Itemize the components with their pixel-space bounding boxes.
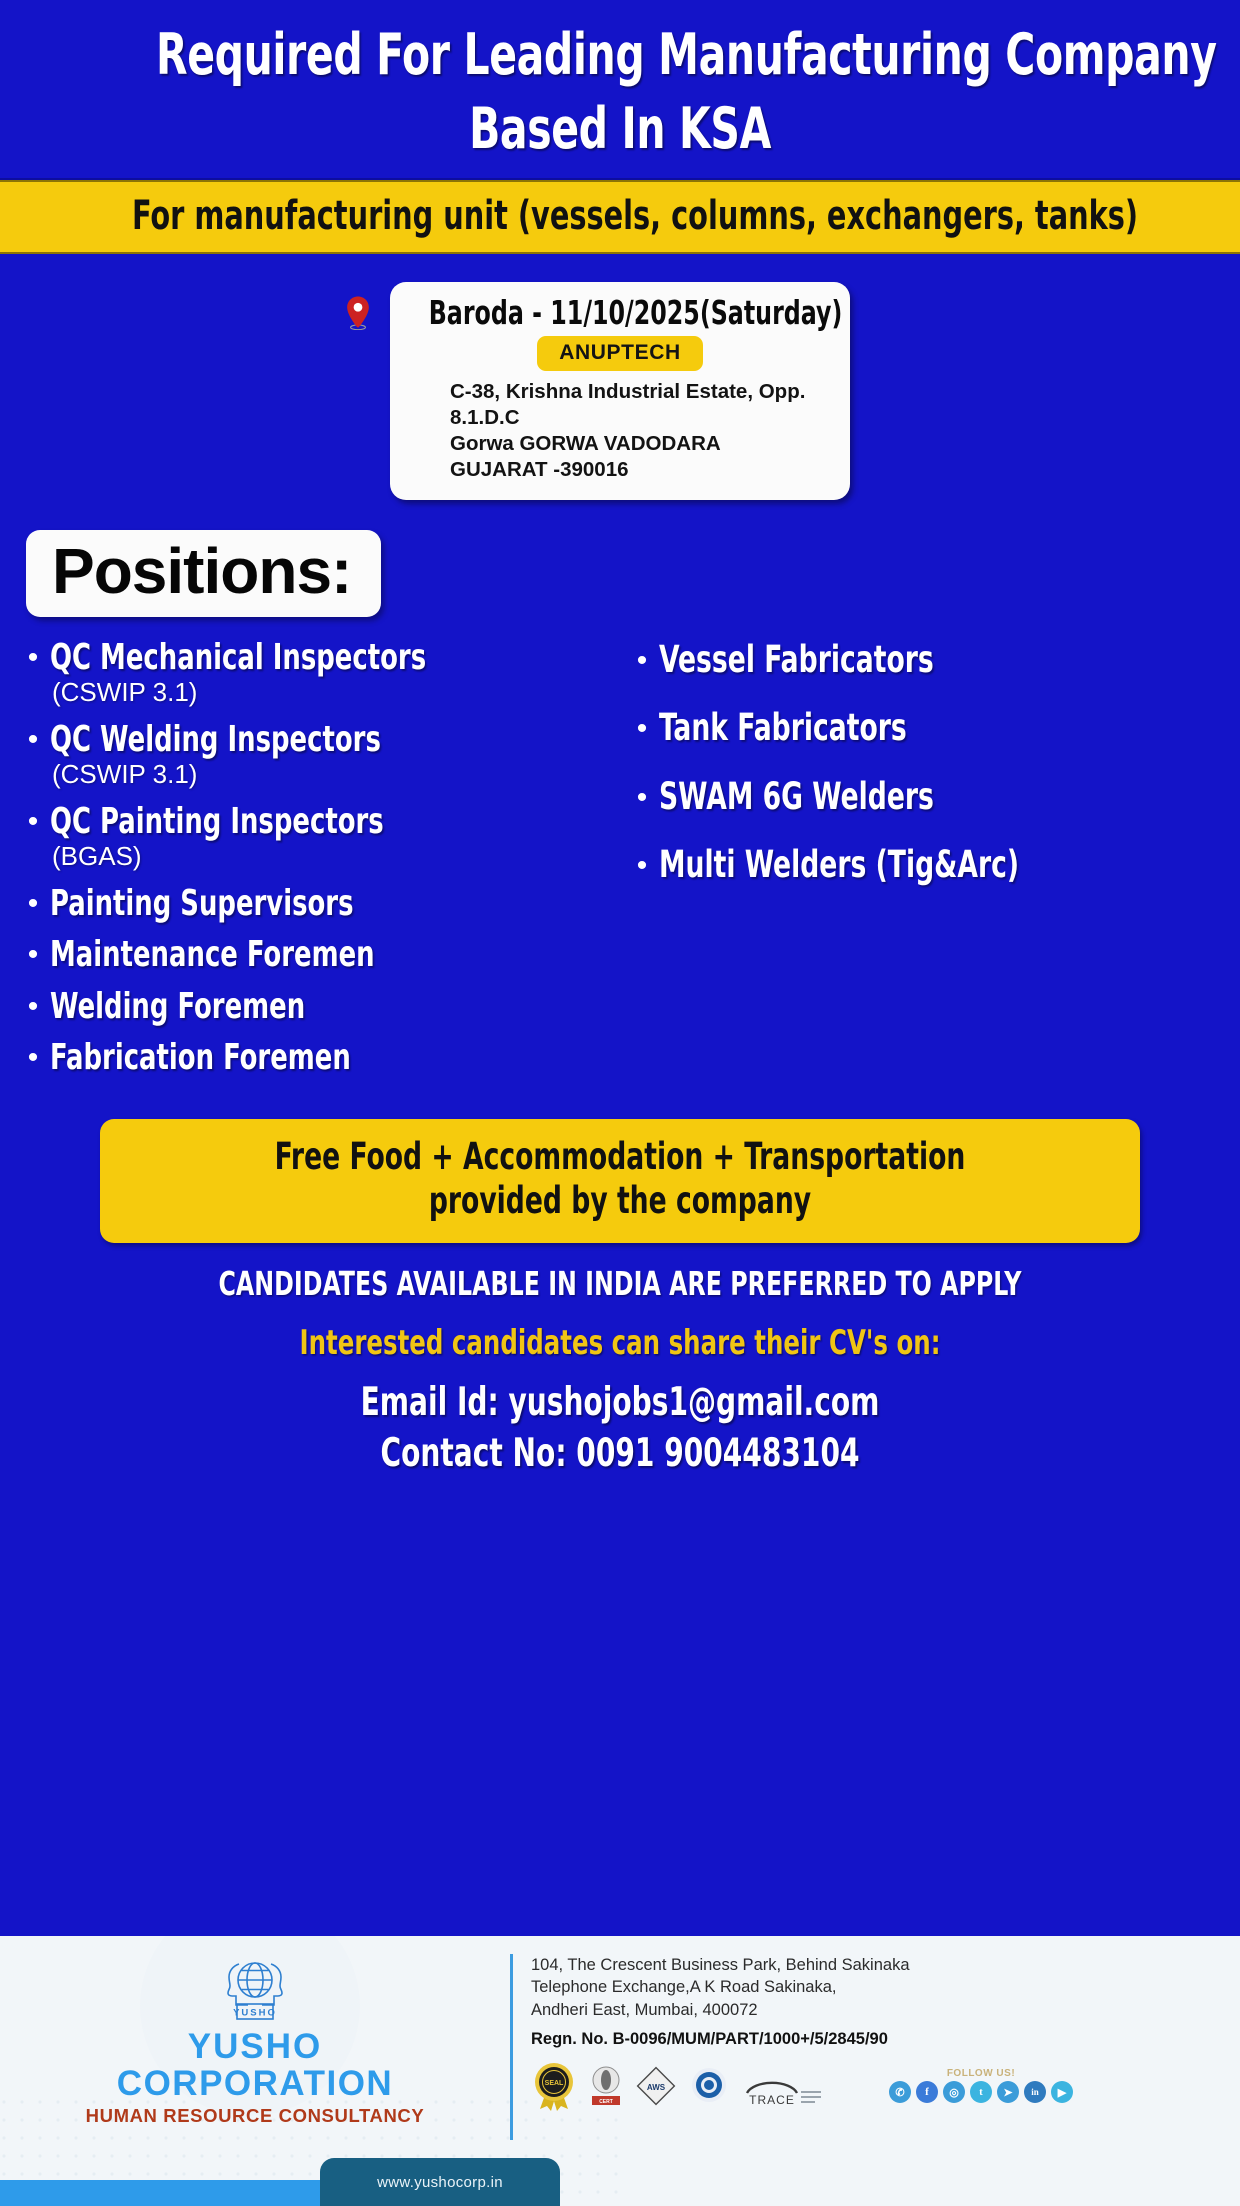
telegram-icon[interactable]: ➤ bbox=[997, 2081, 1019, 2103]
bullet-icon: • bbox=[16, 725, 50, 755]
job-title: Welding Foremen bbox=[50, 988, 305, 1025]
job-list-left: • QC Mechanical Inspectors (CSWIP 3.1) •… bbox=[16, 639, 615, 1077]
cv-prompt: Interested candidates can share their CV… bbox=[124, 1326, 1116, 1360]
list-item: • Maintenance Foremen bbox=[16, 936, 615, 973]
hero-title-line1: Required For Leading Manufacturing Compa… bbox=[156, 26, 1084, 86]
footer-brand: YUSHO YUSHO CORPORATION HUMAN RESOURCE C… bbox=[0, 1936, 510, 2127]
job-row: • SWAM 6G Welders bbox=[625, 778, 1224, 816]
brand-name-line2: CORPORATION bbox=[0, 2065, 510, 2102]
job-row: • Painting Supervisors bbox=[16, 885, 615, 922]
bullet-icon: • bbox=[625, 714, 659, 744]
contact-email[interactable]: Email Id: yushojobs1@gmail.com bbox=[124, 1382, 1116, 1425]
eligibility-notice: CANDIDATES AVAILABLE IN INDIA ARE PREFER… bbox=[124, 1267, 1116, 1300]
bullet-icon: • bbox=[16, 992, 50, 1022]
gold-seal-badge: SEAL bbox=[531, 2061, 577, 2111]
venue-address: C-38, Krishna Industrial Estate, Opp. 8.… bbox=[408, 379, 832, 484]
job-row: • QC Mechanical Inspectors bbox=[16, 639, 615, 676]
bullet-icon: • bbox=[625, 851, 659, 881]
subtitle-text: For manufacturing unit (vessels, columns… bbox=[132, 196, 1108, 236]
job-row: • Fabrication Foremen bbox=[16, 1039, 615, 1076]
positions-left-column: • QC Mechanical Inspectors (CSWIP 3.1) •… bbox=[16, 639, 615, 1091]
brand-name-line1: YUSHO bbox=[0, 2028, 510, 2065]
hero-banner: Required For Leading Manufacturing Compa… bbox=[0, 0, 1240, 180]
list-item: • Painting Supervisors bbox=[16, 885, 615, 922]
benefits-box: Free Food + Accommodation + Transportati… bbox=[100, 1119, 1140, 1244]
job-title: Maintenance Foremen bbox=[50, 936, 375, 973]
positions-heading-chip: Positions: bbox=[26, 530, 381, 617]
instagram-icon[interactable]: ◎ bbox=[943, 2081, 965, 2103]
list-item: • Welding Foremen bbox=[16, 988, 615, 1025]
location-pin-icon bbox=[345, 296, 371, 330]
job-row: • QC Painting Inspectors bbox=[16, 803, 615, 840]
aws-badge-label: AWS bbox=[647, 2083, 666, 2092]
bullet-icon: • bbox=[16, 889, 50, 919]
registration-number: Regn. No. B-0096/MUM/PART/1000+/5/2845/9… bbox=[531, 2030, 1240, 2049]
job-subtitle: (CSWIP 3.1) bbox=[52, 760, 615, 789]
list-item: • Fabrication Foremen bbox=[16, 1039, 615, 1076]
bullet-icon: • bbox=[16, 807, 50, 837]
job-title: SWAM 6G Welders bbox=[659, 778, 934, 816]
bullet-icon: • bbox=[625, 646, 659, 676]
trace-badge-label: TRACE bbox=[749, 2093, 795, 2107]
footer: YUSHO YUSHO CORPORATION HUMAN RESOURCE C… bbox=[0, 1936, 1240, 2206]
blue-circular-badge bbox=[689, 2065, 729, 2107]
list-item: • QC Painting Inspectors (BGAS) bbox=[16, 803, 615, 871]
aws-diamond-badge: AWS bbox=[635, 2065, 677, 2107]
svg-text:CERT: CERT bbox=[599, 2099, 613, 2105]
positions-right-column: • Vessel Fabricators • Tank Fabricators … bbox=[625, 639, 1224, 1091]
list-item: • QC Mechanical Inspectors (CSWIP 3.1) bbox=[16, 639, 615, 707]
job-subtitle: (BGAS) bbox=[52, 842, 615, 871]
footer-address-line-1: 104, The Crescent Business Park, Behind … bbox=[531, 1954, 1240, 1976]
website-url[interactable]: www.yushocorp.in bbox=[377, 2174, 503, 2191]
certification-badges: SEAL CERT AWS bbox=[531, 2061, 1240, 2111]
positions-heading-text: Positions: bbox=[52, 535, 351, 607]
venue-address-line-1: C-38, Krishna Industrial Estate, Opp. 8.… bbox=[450, 379, 832, 431]
page-title: Required For Leading Manufacturing Compa… bbox=[40, 26, 1200, 160]
venue-address-line-3: GUJARAT -390016 bbox=[450, 457, 832, 483]
venue-address-line-2: Gorwa GORWA VADODARA bbox=[450, 431, 832, 457]
benefits-line-2: provided by the company bbox=[220, 1179, 1020, 1223]
job-row: • Tank Fabricators bbox=[625, 709, 1224, 747]
venue-company-row: ANUPTECH bbox=[408, 336, 832, 371]
job-row: • Welding Foremen bbox=[16, 988, 615, 1025]
trace-badge: TRACE bbox=[741, 2065, 825, 2107]
facebook-icon[interactable]: f bbox=[916, 2081, 938, 2103]
svg-text:SEAL: SEAL bbox=[545, 2080, 564, 2087]
follow-us-block: FOLLOW US! ✆ f ◎ t ➤ in ▶ bbox=[889, 2068, 1073, 2103]
brand-tagline: HUMAN RESOURCE CONSULTANCY bbox=[0, 2105, 510, 2127]
list-item: • SWAM 6G Welders bbox=[625, 778, 1224, 816]
job-title: Fabrication Foremen bbox=[50, 1039, 351, 1076]
hero-title-line2: Based In KSA bbox=[156, 100, 1084, 160]
poster-body: Baroda - 11/10/2025(Saturday) ANUPTECH C… bbox=[0, 254, 1240, 1936]
job-title: QC Mechanical Inspectors bbox=[50, 639, 426, 676]
venue-header: Baroda - 11/10/2025(Saturday) bbox=[408, 296, 832, 330]
benefits-section: Free Food + Accommodation + Transportati… bbox=[0, 1091, 1240, 1244]
bullet-icon: • bbox=[16, 940, 50, 970]
venue-company-badge: ANUPTECH bbox=[537, 336, 702, 371]
contact-phone[interactable]: Contact No: 0091 9004483104 bbox=[124, 1433, 1116, 1476]
job-row: • QC Welding Inspectors bbox=[16, 721, 615, 758]
bullet-icon: • bbox=[16, 643, 50, 673]
job-title: Multi Welders (Tig&Arc) bbox=[659, 846, 1019, 884]
job-title: Tank Fabricators bbox=[659, 709, 907, 747]
yusho-globe-heads-logo: YUSHO bbox=[209, 1952, 301, 2026]
follow-us-label: FOLLOW US! bbox=[889, 2068, 1073, 2079]
whatsapp-icon[interactable]: ✆ bbox=[889, 2081, 911, 2103]
job-row: • Vessel Fabricators bbox=[625, 641, 1224, 679]
list-item: • QC Welding Inspectors (CSWIP 3.1) bbox=[16, 721, 615, 789]
job-title: QC Painting Inspectors bbox=[50, 803, 384, 840]
job-row: • Maintenance Foremen bbox=[16, 936, 615, 973]
footer-details: 104, The Crescent Business Park, Behind … bbox=[513, 1936, 1240, 2111]
website-ribbon[interactable]: www.yushocorp.in bbox=[320, 2158, 560, 2206]
positions-heading-wrap: Positions: bbox=[0, 500, 1240, 617]
positions-columns: • QC Mechanical Inspectors (CSWIP 3.1) •… bbox=[0, 617, 1240, 1091]
bullet-icon: • bbox=[625, 783, 659, 813]
social-links[interactable]: ✆ f ◎ t ➤ in ▶ bbox=[889, 2081, 1073, 2103]
venue-card: Baroda - 11/10/2025(Saturday) ANUPTECH C… bbox=[390, 282, 850, 500]
youtube-icon[interactable]: ▶ bbox=[1051, 2081, 1073, 2103]
footer-address-line-3: Andheri East, Mumbai, 400072 bbox=[531, 1999, 1240, 2021]
job-list-right: • Vessel Fabricators • Tank Fabricators … bbox=[625, 641, 1224, 885]
job-poster: Required For Leading Manufacturing Compa… bbox=[0, 0, 1240, 2206]
bullet-icon: • bbox=[16, 1043, 50, 1073]
list-item: • Tank Fabricators bbox=[625, 709, 1224, 747]
twitter-icon[interactable]: t bbox=[970, 2081, 992, 2103]
job-title: Painting Supervisors bbox=[50, 885, 354, 922]
venue-city-date: Baroda - 11/10/2025(Saturday) bbox=[429, 296, 843, 329]
job-title: Vessel Fabricators bbox=[659, 641, 934, 679]
linkedin-icon[interactable]: in bbox=[1024, 2081, 1046, 2103]
job-title: QC Welding Inspectors bbox=[50, 721, 381, 758]
venue-section: Baroda - 11/10/2025(Saturday) ANUPTECH C… bbox=[0, 282, 1240, 500]
job-row: • Multi Welders (Tig&Arc) bbox=[625, 846, 1224, 884]
logo-wordmark: YUSHO bbox=[233, 2008, 277, 2019]
job-subtitle: (CSWIP 3.1) bbox=[52, 678, 615, 707]
benefits-line-1: Free Food + Accommodation + Transportati… bbox=[220, 1135, 1020, 1179]
subtitle-banner: For manufacturing unit (vessels, columns… bbox=[0, 180, 1240, 254]
list-item: • Multi Welders (Tig&Arc) bbox=[625, 846, 1224, 884]
list-item: • Vessel Fabricators bbox=[625, 641, 1224, 679]
dark-certification-badge: CERT bbox=[589, 2064, 623, 2108]
footer-address-line-2: Telephone Exchange,A K Road Sakinaka, bbox=[531, 1976, 1240, 1998]
